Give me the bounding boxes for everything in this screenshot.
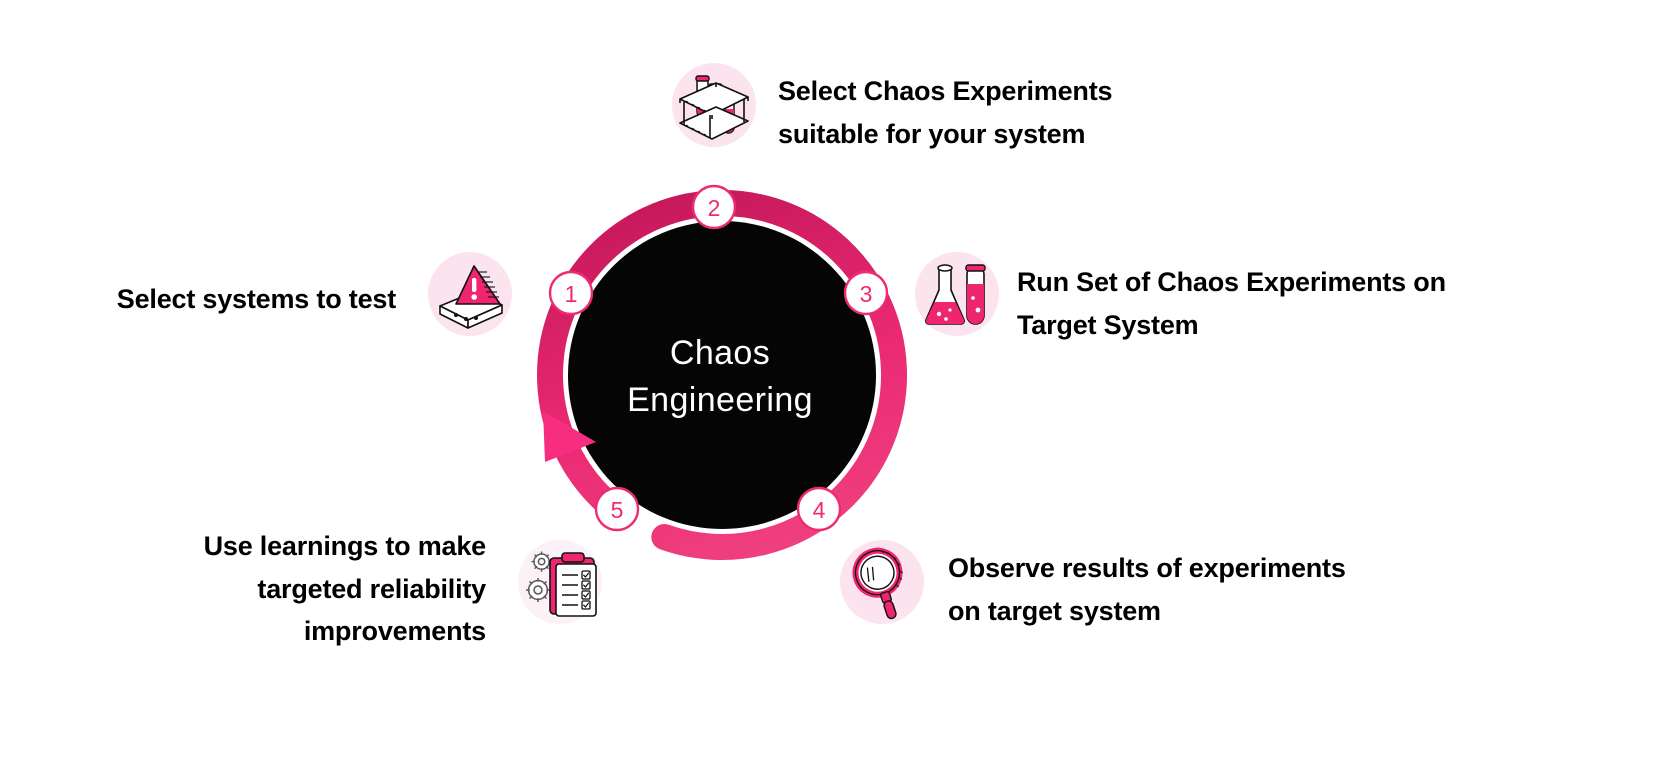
flask-and-test-tube-icon xyxy=(915,252,999,341)
magnifying-glass-icon xyxy=(840,540,924,629)
step-5-label: Use learnings to make targeted reliabili… xyxy=(110,525,486,653)
step-2-label: Select Chaos Experiments suitable for yo… xyxy=(778,70,1198,155)
step-badge-5-number: 5 xyxy=(597,497,637,524)
server-warning-icon xyxy=(428,252,512,341)
clipboard-checklist-gears-icon xyxy=(518,540,602,629)
step-badge-1-number: 1 xyxy=(551,281,591,308)
chaos-engineering-diagram: 1 2 3 4 5 Chaos Engineering xyxy=(0,0,1674,765)
step-1-label: Select systems to test xyxy=(20,278,396,321)
center-label: Chaos Engineering xyxy=(600,330,840,424)
step-4-label: Observe results of experiments on target… xyxy=(948,547,1448,632)
step-badge-4-number: 4 xyxy=(799,497,839,524)
step-badge-3-number: 3 xyxy=(846,281,886,308)
step-badge-2-number: 2 xyxy=(694,195,734,222)
step-3-label: Run Set of Chaos Experiments on Target S… xyxy=(1017,261,1537,346)
test-tube-rack-icon xyxy=(672,63,756,152)
